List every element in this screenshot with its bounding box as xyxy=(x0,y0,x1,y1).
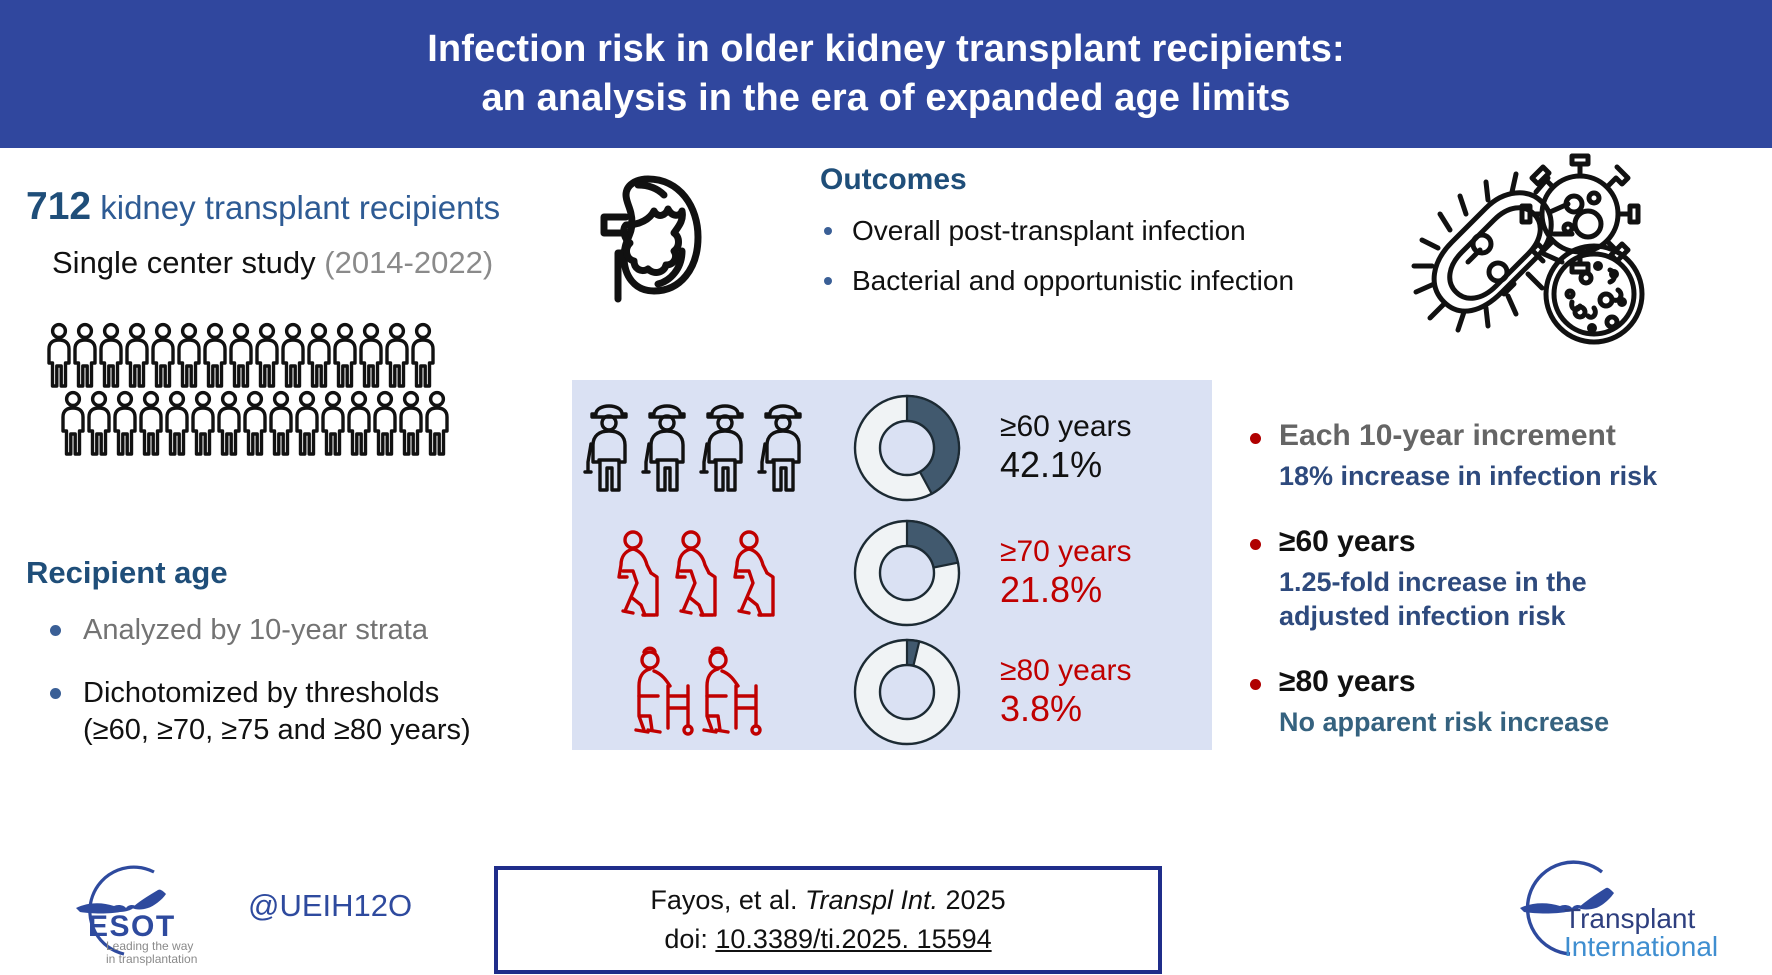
person-icon xyxy=(384,322,410,388)
person-icon xyxy=(294,390,320,456)
bullet-dot-icon xyxy=(1250,433,1261,444)
citation-year: 2025 xyxy=(938,885,1006,915)
bullet-dot-icon xyxy=(824,277,832,285)
person-icon xyxy=(410,322,436,388)
person-icon xyxy=(60,390,86,456)
age-group-labels: ≥60 years 42.1% xyxy=(992,410,1210,486)
kidney-icon xyxy=(596,165,716,310)
person-icon xyxy=(332,322,358,388)
finding-heading: ≥80 years xyxy=(1279,664,1416,700)
finding-item: ≥60 years 1.25-fold increase in the adju… xyxy=(1250,524,1750,634)
pathogens-illustration xyxy=(1408,152,1668,357)
finding-item: ≥80 years No apparent risk increase xyxy=(1250,664,1750,740)
elderly-standing-icon xyxy=(640,400,696,496)
elderly-cane-icon xyxy=(611,525,667,621)
people-pictogram xyxy=(46,322,456,456)
finding-heading: Each 10-year increment xyxy=(1279,418,1616,454)
finding-detail-line1: 1.25-fold increase in the xyxy=(1279,567,1587,597)
infographic-root: Infection risk in older kidney transplan… xyxy=(0,0,1772,974)
person-icon xyxy=(254,322,280,388)
finding-heading-row: ≥80 years xyxy=(1250,664,1750,700)
elderly-walker-icon-group xyxy=(572,644,822,740)
list-item: Analyzed by 10-year strata xyxy=(40,612,520,649)
donut-chart-70 xyxy=(822,514,992,632)
finding-item: Each 10-year increment 18% increase in i… xyxy=(1250,418,1750,494)
outcome-item-2: Bacterial and opportunistic infection xyxy=(852,263,1294,299)
person-icon xyxy=(176,322,202,388)
bullet-dot-icon xyxy=(1250,679,1261,690)
age-group-percent: 42.1% xyxy=(1000,444,1210,486)
elderly-cane-icon-group xyxy=(572,525,822,621)
finding-heading-row: Each 10-year increment xyxy=(1250,418,1750,454)
study-design-line: Single center study (2014-2022) xyxy=(52,245,493,281)
elderly-cane-icon xyxy=(727,525,783,621)
age-group-name: ≥70 years xyxy=(1000,535,1210,569)
bullet-dot-icon xyxy=(824,227,832,235)
person-icon xyxy=(112,390,138,456)
people-row xyxy=(60,390,456,456)
elderly-standing-icon xyxy=(582,400,638,496)
person-icon xyxy=(150,322,176,388)
age-group-labels: ≥80 years 3.8% xyxy=(992,654,1210,730)
age-group-name: ≥80 years xyxy=(1000,654,1210,688)
recipients-count-line: 712 kidney transplant recipients xyxy=(26,185,500,229)
bullet-dot-icon xyxy=(50,625,61,636)
outcome-item-1: Overall post-transplant infection xyxy=(852,213,1246,249)
person-icon xyxy=(72,322,98,388)
person-icon xyxy=(346,390,372,456)
person-icon xyxy=(46,322,72,388)
page-title: Infection risk in older kidney transplan… xyxy=(427,25,1345,122)
recipient-age-bullet-2-line1: Dichotomized by thresholds xyxy=(83,677,439,709)
person-icon xyxy=(124,322,150,388)
person-icon xyxy=(424,390,450,456)
person-icon xyxy=(280,322,306,388)
finding-detail: 18% increase in infection risk xyxy=(1279,459,1750,494)
list-item: Overall post-transplant infection xyxy=(820,213,1340,249)
esot-logo: ESOT Leading the way in transplantation xyxy=(62,862,240,971)
person-icon xyxy=(190,390,216,456)
outcomes-list: Overall post-transplant infection Bacter… xyxy=(820,213,1340,314)
bullet-dot-icon xyxy=(50,688,61,699)
person-icon xyxy=(242,390,268,456)
header-banner: Infection risk in older kidney transplan… xyxy=(0,0,1772,148)
citation-journal: Transpl Int. xyxy=(805,885,938,915)
ti-wordmark-line-1: Transplant xyxy=(1564,903,1695,934)
list-item: Dichotomized by thresholds (≥60, ≥70, ≥7… xyxy=(40,675,520,749)
finding-detail-line2: adjusted infection risk xyxy=(1279,601,1566,631)
age-group-row: ≥80 years 3.8% xyxy=(572,632,1212,752)
bullet-dot-icon xyxy=(1250,539,1261,550)
elderly-standing-icon xyxy=(698,400,754,496)
person-icon xyxy=(164,390,190,456)
transplant-international-logo: Transplant International xyxy=(1506,858,1742,975)
recipient-age-heading: Recipient age xyxy=(26,555,228,591)
person-icon xyxy=(306,322,332,388)
esot-tagline-2: in transplantation xyxy=(106,952,197,966)
age-group-row: ≥60 years 42.1% xyxy=(572,388,1212,508)
ti-wordmark-line-2: International xyxy=(1564,931,1718,962)
study-period: (2014-2022) xyxy=(324,245,493,280)
person-icon xyxy=(228,322,254,388)
age-group-percent: 21.8% xyxy=(1000,569,1210,611)
social-handle[interactable]: @UEIH12O xyxy=(248,888,412,924)
citation-line-1: Fayos, et al. Transpl Int. 2025 xyxy=(650,881,1005,920)
list-item: Bacterial and opportunistic infection xyxy=(820,263,1340,299)
finding-heading-row: ≥60 years xyxy=(1250,524,1750,560)
person-icon xyxy=(358,322,384,388)
age-group-labels: ≥70 years 21.8% xyxy=(992,535,1210,611)
age-group-row: ≥70 years 21.8% xyxy=(572,513,1212,633)
person-icon xyxy=(398,390,424,456)
citation-box: Fayos, et al. Transpl Int. 2025 doi: 10.… xyxy=(494,866,1162,974)
person-icon xyxy=(216,390,242,456)
finding-detail: 1.25-fold increase in the adjusted infec… xyxy=(1279,565,1750,634)
age-group-percent: 3.8% xyxy=(1000,688,1210,730)
recipient-age-bullet-2: Dichotomized by thresholds (≥60, ≥70, ≥7… xyxy=(83,675,471,749)
donut-chart-60 xyxy=(822,389,992,507)
outcomes-heading: Outcomes xyxy=(820,163,967,197)
recipient-age-bullet-2-line2: (≥60, ≥70, ≥75 and ≥80 years) xyxy=(83,714,471,746)
doi-label: doi: xyxy=(664,924,715,954)
age-distribution-panel: ≥60 years 42.1% ≥70 years 21.8% ≥80 year… xyxy=(572,380,1212,750)
recipients-count-label: kidney transplant recipients xyxy=(91,189,500,226)
person-icon xyxy=(138,390,164,456)
finding-heading: ≥60 years xyxy=(1279,524,1416,560)
person-icon xyxy=(86,390,112,456)
recipient-age-bullets: Analyzed by 10-year strata Dichotomized … xyxy=(40,612,520,775)
petri-dish-icon xyxy=(1546,246,1642,342)
recipients-count-number: 712 xyxy=(26,185,91,228)
person-icon xyxy=(372,390,398,456)
person-icon xyxy=(320,390,346,456)
study-design-label: Single center study xyxy=(52,245,324,280)
person-icon xyxy=(202,322,228,388)
person-icon xyxy=(98,322,124,388)
elderly-standing-icon xyxy=(756,400,812,496)
esot-tagline-1: Leading the way xyxy=(106,939,193,953)
elderly-cane-icon xyxy=(669,525,725,621)
title-line-2: an analysis in the era of expanded age l… xyxy=(427,74,1345,123)
doi-link[interactable]: 10.3389/ti.2025. 15594 xyxy=(715,924,991,954)
elderly-walker-icon xyxy=(630,644,696,740)
people-row xyxy=(46,322,456,388)
recipient-age-bullet-1: Analyzed by 10-year strata xyxy=(83,612,428,649)
person-icon xyxy=(268,390,294,456)
elderly-standing-icon-group xyxy=(572,400,822,496)
title-line-1: Infection risk in older kidney transplan… xyxy=(427,28,1345,70)
finding-detail: No apparent risk increase xyxy=(1279,705,1750,740)
citation-authors: Fayos, et al. xyxy=(650,885,805,915)
citation-line-2: doi: 10.3389/ti.2025. 15594 xyxy=(664,920,991,959)
elderly-walker-icon xyxy=(698,644,764,740)
key-findings: Each 10-year increment 18% increase in i… xyxy=(1250,418,1750,769)
donut-chart-80 xyxy=(822,633,992,751)
age-group-name: ≥60 years xyxy=(1000,410,1210,444)
